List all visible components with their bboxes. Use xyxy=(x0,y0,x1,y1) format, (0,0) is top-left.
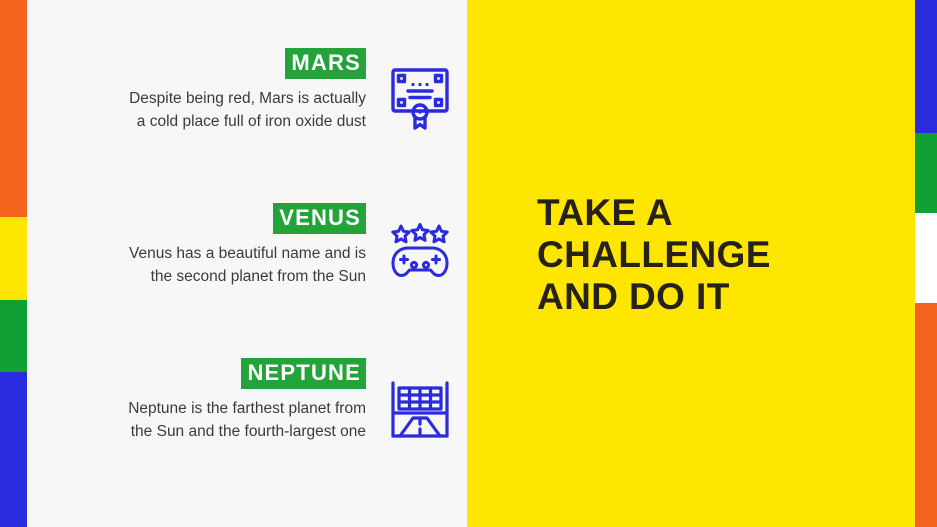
fact-description-mars: Despite being red, Mars is actually a co… xyxy=(127,87,366,133)
fact-item-mars: MARS Despite being red, Mars is actually… xyxy=(27,48,467,133)
headline-line-1: TAKE A xyxy=(537,192,867,234)
badge-mars: MARS xyxy=(285,48,366,79)
left-bar-segment-yellow xyxy=(0,217,27,300)
right-bar-segment-blue xyxy=(915,0,937,133)
headline-line-2: CHALLENGE xyxy=(537,234,867,276)
badge-row-neptune: NEPTUNE xyxy=(127,358,366,389)
page-title: TAKE A CHALLENGE AND DO IT xyxy=(537,192,867,318)
badge-neptune: NEPTUNE xyxy=(241,358,366,389)
fact-description-neptune: Neptune is the farthest planet from the … xyxy=(127,397,366,443)
facts-panel: MARS Despite being red, Mars is actually… xyxy=(27,0,467,527)
right-bar-segment-orange xyxy=(915,303,937,527)
badge-row-venus: VENUS xyxy=(127,203,366,234)
fact-text-venus: VENUS Venus has a beautiful name and is … xyxy=(127,203,372,288)
left-color-bar xyxy=(0,0,27,527)
fact-item-neptune: NEPTUNE Neptune is the farthest planet f… xyxy=(27,358,467,443)
left-bar-segment-orange xyxy=(0,0,27,217)
yellow-headline-panel: TAKE A CHALLENGE AND DO IT xyxy=(467,0,915,527)
fact-text-neptune: NEPTUNE Neptune is the farthest planet f… xyxy=(127,358,372,443)
certificate-icon xyxy=(372,48,467,132)
slide-canvas: MARS Despite being red, Mars is actually… xyxy=(0,0,937,527)
fact-item-venus: VENUS Venus has a beautiful name and is … xyxy=(27,203,467,288)
gamepad-icon xyxy=(372,203,467,283)
stadium-icon xyxy=(372,358,467,440)
left-bar-segment-green xyxy=(0,300,27,372)
badge-venus: VENUS xyxy=(273,203,366,234)
right-color-bar xyxy=(915,0,937,527)
fact-description-venus: Venus has a beautiful name and is the se… xyxy=(127,242,366,288)
headline-line-3: AND DO IT xyxy=(537,276,867,318)
badge-row-mars: MARS xyxy=(127,48,366,79)
right-bar-segment-green xyxy=(915,133,937,213)
right-bar-segment-white xyxy=(915,213,937,303)
left-bar-segment-blue xyxy=(0,372,27,527)
fact-text-mars: MARS Despite being red, Mars is actually… xyxy=(127,48,372,133)
